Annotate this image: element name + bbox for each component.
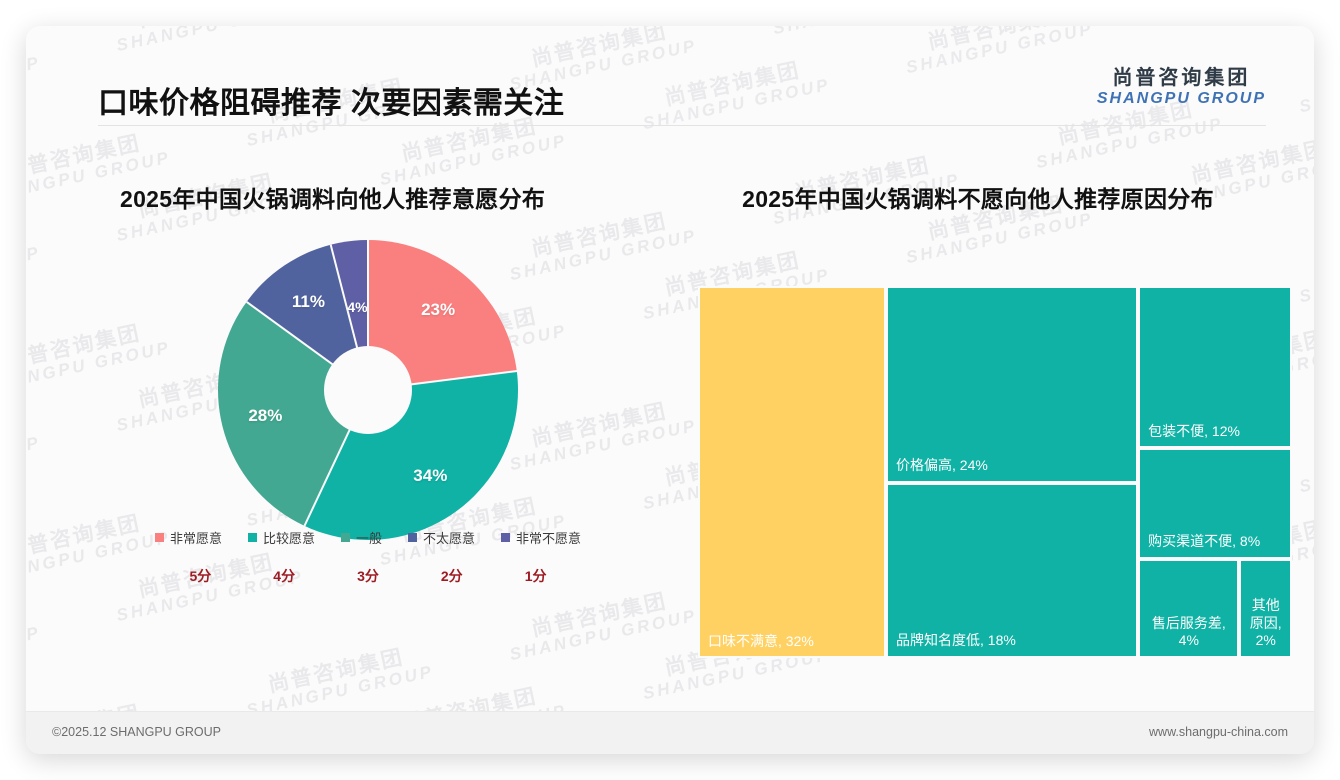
logo-chinese-text: 尚普咨询集团 <box>1097 68 1266 90</box>
slide-header: 口味价格阻碍推荐 次要因素需关注 尚普咨询集团 SHANGPU GROUP <box>26 26 1314 125</box>
legend-label: 一般 <box>356 528 382 547</box>
score-label: 3分 <box>357 566 379 586</box>
legend-label: 比较愿意 <box>263 528 315 547</box>
score-label: 5分 <box>190 566 212 586</box>
logo-english-text: SHANGPU GROUP <box>1097 90 1266 107</box>
legend-item[interactable]: 一般 <box>341 528 382 547</box>
treemap-chart-title: 2025年中国火锅调料不愿向他人推荐原因分布 <box>698 158 1258 214</box>
donut-legend: 非常愿意比较愿意一般不太愿意非常不愿意 <box>98 528 638 547</box>
donut-slice-label: 11% <box>292 292 325 312</box>
legend-label: 不太愿意 <box>423 528 475 547</box>
treemap-tile[interactable]: 其他原因, 2% <box>1239 559 1292 658</box>
footer-bar: ©2025.12 SHANGPU GROUP www.shangpu-china… <box>26 711 1314 754</box>
legend-item[interactable]: 不太愿意 <box>408 528 475 547</box>
score-label: 1分 <box>525 566 547 586</box>
header-divider <box>98 125 1266 126</box>
treemap-tile-label: 其他原因, 2% <box>1245 597 1286 650</box>
page-title: 口味价格阻碍推荐 次要因素需关注 <box>98 78 564 122</box>
donut-chart-title: 2025年中国火锅调料向他人推荐意愿分布 <box>98 158 638 214</box>
treemap-tile[interactable]: 售后服务差, 4% <box>1138 559 1239 658</box>
legend-swatch-icon <box>155 533 164 542</box>
donut-chart-panel: 2025年中国火锅调料向他人推荐意愿分布 23%34%28%11%4% 非常愿意… <box>98 158 638 698</box>
legend-label: 非常愿意 <box>170 528 222 547</box>
treemap-tile-label: 售后服务差, 4% <box>1144 615 1233 650</box>
score-label: 4分 <box>273 566 295 586</box>
treemap-tile[interactable]: 口味不满意, 32% <box>698 286 886 658</box>
legend-swatch-icon <box>248 533 257 542</box>
legend-swatch-icon <box>408 533 417 542</box>
footer-copyright: ©2025.12 SHANGPU GROUP <box>52 725 221 739</box>
treemap-tile-label: 价格偏高, 24% <box>896 457 1130 475</box>
treemap-tile-label: 包装不便, 12% <box>1148 423 1284 441</box>
legend-item[interactable]: 非常愿意 <box>155 528 222 547</box>
footer-website[interactable]: www.shangpu-china.com <box>1149 725 1288 739</box>
treemap-tile[interactable]: 价格偏高, 24% <box>886 286 1138 483</box>
treemap-tile[interactable]: 包装不便, 12% <box>1138 286 1292 448</box>
legend-item[interactable]: 比较愿意 <box>248 528 315 547</box>
treemap-chart: 口味不满意, 32%价格偏高, 24%品牌知名度低, 18%包装不便, 12%购… <box>698 286 1292 658</box>
treemap-chart-panel: 2025年中国火锅调料不愿向他人推荐原因分布 口味不满意, 32%价格偏高, 2… <box>698 158 1258 698</box>
treemap-tile[interactable]: 品牌知名度低, 18% <box>886 483 1138 658</box>
legend-item[interactable]: 非常不愿意 <box>501 528 581 547</box>
legend-swatch-icon <box>341 533 350 542</box>
donut-slice-label: 34% <box>413 466 447 486</box>
donut-slice-divider <box>367 240 369 390</box>
treemap-tile-label: 品牌知名度低, 18% <box>896 632 1130 650</box>
brand-logo: 尚普咨询集团 SHANGPU GROUP <box>1097 68 1266 107</box>
donut-slice-label: 28% <box>248 406 282 426</box>
treemap-tile-label: 购买渠道不便, 8% <box>1148 533 1284 551</box>
legend-swatch-icon <box>501 533 510 542</box>
slide-card: 尚普咨询集团SHANGPU GROUP尚普咨询集团SHANGPU GROUP尚普… <box>26 26 1314 754</box>
treemap-tile-label: 口味不满意, 32% <box>708 633 878 651</box>
donut-slice-label: 23% <box>421 300 455 320</box>
score-label: 2分 <box>441 566 463 586</box>
donut-slice-label: 4% <box>347 299 367 315</box>
score-scale-row: 5分4分3分2分1分 <box>98 566 638 586</box>
treemap-tile[interactable]: 购买渠道不便, 8% <box>1138 448 1292 559</box>
legend-label: 非常不愿意 <box>516 528 581 547</box>
donut-chart: 23%34%28%11%4% <box>218 240 518 540</box>
